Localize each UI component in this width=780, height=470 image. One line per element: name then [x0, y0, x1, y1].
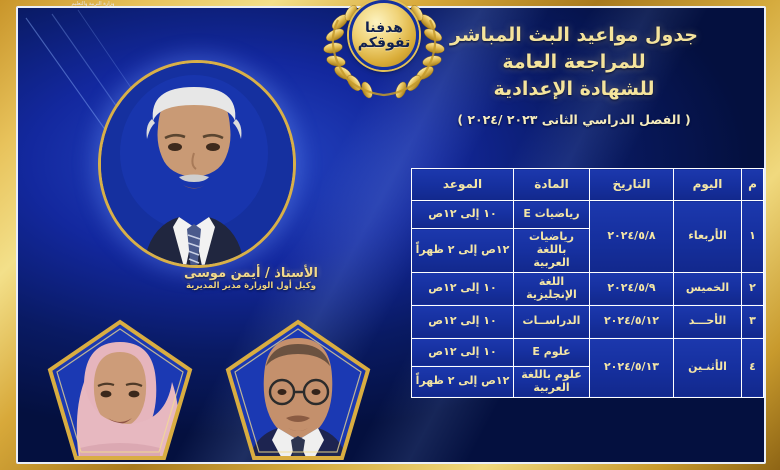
woman-photo-illustration: [44, 318, 196, 466]
man-glasses-photo-illustration: [222, 318, 374, 466]
badge-line-2: تفوقكم: [358, 36, 410, 50]
schedule-table: م اليوم التاريخ المادة الموعد ١الأربعاء٢…: [411, 168, 764, 398]
schedule-table-wrapper: م اليوم التاريخ المادة الموعد ١الأربعاء٢…: [412, 168, 764, 398]
badge-line-1: هدفنا: [365, 21, 403, 35]
cell-time: ١٢ص إلى ٢ ظهراً: [412, 229, 514, 273]
hero-portrait-photo: [98, 60, 296, 268]
cell-date: ٢٠٢٤/٥/١٢: [590, 305, 674, 338]
cell-time: ١٠ إلى ١٢ص: [412, 338, 514, 366]
poster-root: وزارة التربية والتعليم: [0, 0, 780, 470]
col-header-time: الموعد: [412, 169, 514, 201]
cell-day: الأثنـين: [674, 338, 742, 397]
badge-disc: هدفنا تفوقكم: [349, 0, 419, 70]
cell-subject: رياضيات باللغة العربية: [514, 229, 590, 273]
cell-row-number: ٢: [742, 272, 764, 305]
col-header-day: اليوم: [674, 169, 742, 201]
term-subtitle: ( الفصل الدراسي الثانى ٢٠٢٣ /٢٠٢٤ ): [398, 112, 750, 127]
cell-row-number: ١: [742, 201, 764, 273]
cell-subject: الدراســات: [514, 305, 590, 338]
title-line-1: جدول مواعيد البث المباشر: [398, 22, 750, 49]
cell-time: ١٠ إلى ١٢ص: [412, 201, 514, 229]
schedule-column: جدول مواعيد البث المباشر للمراجعة العامة…: [398, 0, 766, 470]
cell-subject: علوم باللغة العربية: [514, 366, 590, 397]
col-header-num: م: [742, 169, 764, 201]
official-role: وكيل أول الوزارة مدير المديرية: [120, 281, 382, 291]
cell-date: ٢٠٢٤/٥/٨: [590, 201, 674, 273]
cell-row-number: ٣: [742, 305, 764, 338]
table-row: ٤الأثنـين٢٠٢٤/٥/١٣علوم E١٠ إلى ١٢ص: [412, 338, 764, 366]
cell-row-number: ٤: [742, 338, 764, 397]
ministry-label: وزارة التربية والتعليم: [18, 1, 168, 7]
official-name: الأستاذ / أيمن موسى: [120, 266, 382, 281]
cell-day: الأربعاء: [674, 201, 742, 273]
table-header-row: م اليوم التاريخ المادة الموعد: [412, 169, 764, 201]
title-block: جدول مواعيد البث المباشر للمراجعة العامة…: [398, 22, 750, 127]
title-line-3: للشهادة الإعدادية: [398, 76, 750, 103]
cell-time: ١٠ إلى ١٢ص: [412, 305, 514, 338]
cell-date: ٢٠٢٤/٥/٩: [590, 272, 674, 305]
cell-day: الأحـــد: [674, 305, 742, 338]
table-row: ٣الأحـــد٢٠٢٤/٥/١٢الدراســات١٠ إلى ١٢ص: [412, 305, 764, 338]
cell-time: ١٠ إلى ١٢ص: [412, 272, 514, 305]
portrait-pentagon-right: [222, 318, 374, 466]
cell-subject: اللغة الإنجليزية: [514, 272, 590, 305]
title-line-2: للمراجعة العامة: [398, 49, 750, 76]
cell-date: ٢٠٢٤/٥/١٣: [590, 338, 674, 397]
cell-subject: علوم E: [514, 338, 590, 366]
man-photo-illustration: [98, 63, 293, 268]
portrait-pentagon-left: [44, 318, 196, 466]
cell-day: الخميس: [674, 272, 742, 305]
schedule-body: ١الأربعاء٢٠٢٤/٥/٨رياضيات E١٠ إلى ١٢صرياض…: [412, 201, 764, 398]
cell-time: ١٢ص إلى ٢ ظهراً: [412, 366, 514, 397]
laurel-badge: هدفنا تفوقكم: [318, 0, 450, 100]
table-row: ٢الخميس٢٠٢٤/٥/٩اللغة الإنجليزية١٠ إلى ١٢…: [412, 272, 764, 305]
cell-subject: رياضيات E: [514, 201, 590, 229]
col-header-date: التاريخ: [590, 169, 674, 201]
col-header-subject: المادة: [514, 169, 590, 201]
table-row: ١الأربعاء٢٠٢٤/٥/٨رياضيات E١٠ إلى ١٢ص: [412, 201, 764, 229]
